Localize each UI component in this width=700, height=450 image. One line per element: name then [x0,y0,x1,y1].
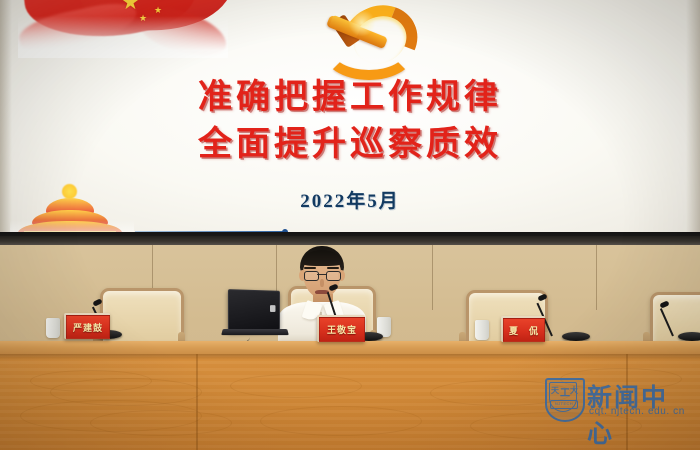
hammer-and-sickle-icon [312,4,408,62]
table-seam [196,354,198,450]
flag-star-icon: ★ [121,0,140,13]
flag-star-icon: ★ [154,6,162,15]
crest-ribbon: NJTECH [550,400,578,409]
wall-rail [0,236,700,245]
nameplate-left: 严建鼓 [64,313,110,339]
nameplate-left-text: 严建鼓 [73,321,103,334]
nameplate-center-text: 王敬宝 [327,323,357,336]
microphone-base [678,332,700,341]
slide-title-line-1: 准确把握工作规律 [0,74,700,121]
watermark-url: cqt. njtech. edu. cn [589,406,685,417]
accent-dot-left [282,229,288,232]
wall-seam [596,240,597,310]
accent-line-left [135,231,285,232]
nameplate-center: 王敬宝 [317,315,365,342]
microphone-base [562,332,590,341]
wall-seam [432,240,433,310]
conference-photo: ★ ★ ★ ★ ★ 准确把握工作规律 全面提升巡察质效 2022年5月 [0,0,700,450]
nameplate-right: 夏 侃 [501,316,545,342]
crest-glyph: 大 [570,385,578,396]
crest-glyph: 工 [560,384,570,399]
laptop-screen [228,289,280,332]
eyeglasses-icon [304,271,319,281]
slide-title-line-2: 全面提升巡察质效 [0,121,700,168]
projection-screen: ★ ★ ★ ★ ★ 准确把握工作规律 全面提升巡察质效 2022年5月 [0,0,700,232]
cup [475,320,489,340]
nameplate-right-text: 夏 侃 [509,324,539,337]
crest-glyph: 天 [551,385,559,396]
slide-title: 准确把握工作规律 全面提升巡察质效 [0,74,700,168]
eyeglasses-icon [326,271,341,281]
flag-star-icon: ★ [158,0,166,2]
university-crest-icon: 天 工 大 NJTECH [545,378,581,418]
cup [46,318,60,338]
temple-of-heaven-icon [10,184,132,232]
watermark: 天 工 大 NJTECH 新闻中心 cqt. njtech. edu. cn [545,376,693,422]
chinese-flag-icon: ★ ★ ★ ★ ★ [18,0,228,58]
table-shadow [0,354,700,360]
